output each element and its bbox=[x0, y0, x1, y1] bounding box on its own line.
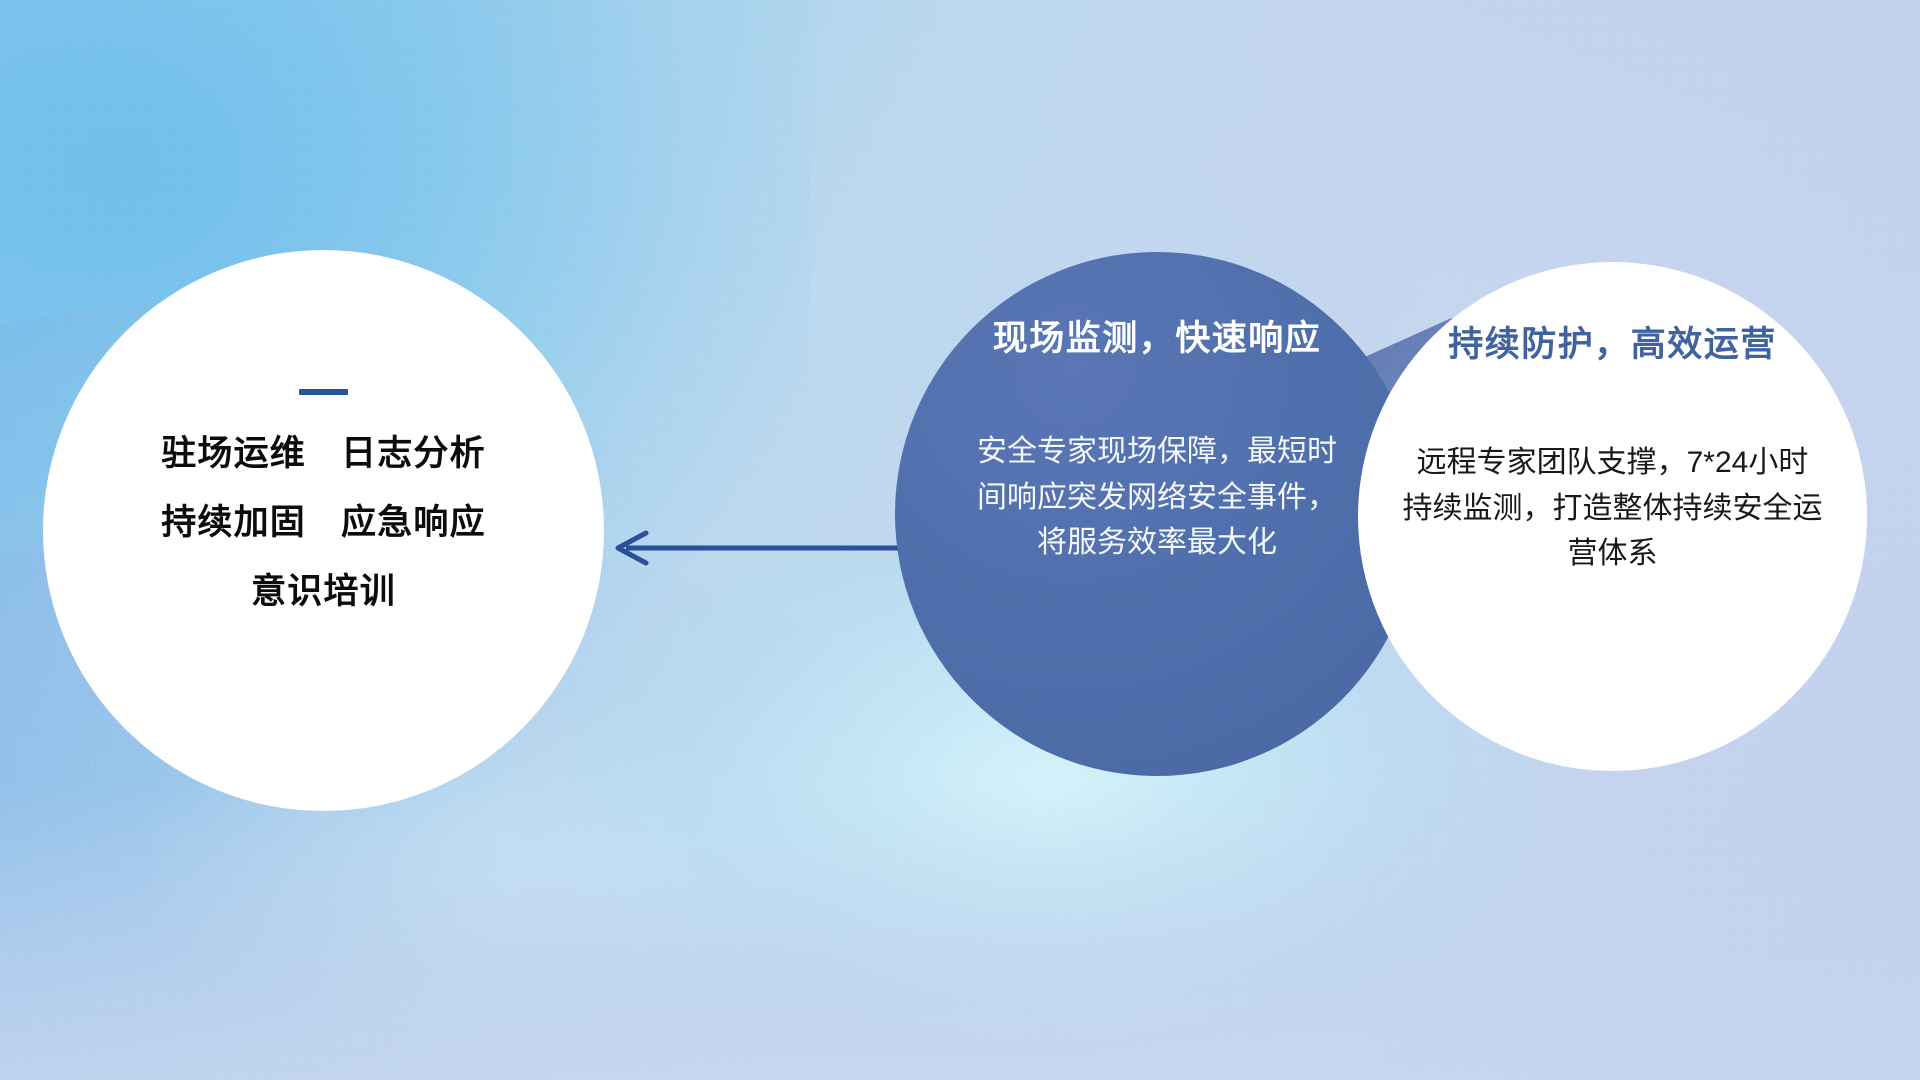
onsite-monitoring-title: 现场监测，快速响应 bbox=[993, 310, 1322, 361]
onsite-monitoring-body: 安全专家现场保障，最短时间响应突发网络安全事件，将服务效率最大化 bbox=[967, 429, 1347, 566]
onsite-monitoring-circle[interactable]: 现场监测，快速响应 安全专家现场保障，最短时间响应突发网络安全事件，将服务效率最… bbox=[895, 252, 1419, 776]
capability-tag: 意识培训 bbox=[251, 574, 396, 611]
capability-tag: 驻场运维 bbox=[161, 436, 306, 473]
capability-row-1: 驻场运维 日志分析 bbox=[161, 436, 486, 473]
capability-tag: 应急响应 bbox=[341, 505, 486, 542]
capability-row-3: 意识培训 bbox=[251, 574, 396, 611]
flow-arrow-left bbox=[604, 520, 904, 576]
capability-row-2: 持续加固 应急响应 bbox=[161, 505, 486, 542]
capability-tag: 持续加固 bbox=[161, 505, 306, 542]
continuous-protection-circle[interactable]: 持续防护，高效运营 远程专家团队支撑，7*24小时持续监测，打造整体持续安全运营… bbox=[1358, 262, 1867, 771]
accent-dash-icon bbox=[299, 389, 348, 395]
continuous-protection-title: 持续防护，高效运营 bbox=[1448, 316, 1777, 367]
capability-tag: 日志分析 bbox=[341, 436, 486, 473]
continuous-protection-body: 远程专家团队支撑，7*24小时持续监测，打造整体持续安全运营体系 bbox=[1403, 440, 1823, 577]
capabilities-content: 驻场运维 日志分析 持续加固 应急响应 意识培训 bbox=[43, 250, 604, 610]
capabilities-circle[interactable]: 驻场运维 日志分析 持续加固 应急响应 意识培训 bbox=[43, 250, 604, 811]
slide-canvas: 驻场运维 日志分析 持续加固 应急响应 意识培训 现场监测，快速响应 安全专家现… bbox=[0, 0, 1920, 1080]
